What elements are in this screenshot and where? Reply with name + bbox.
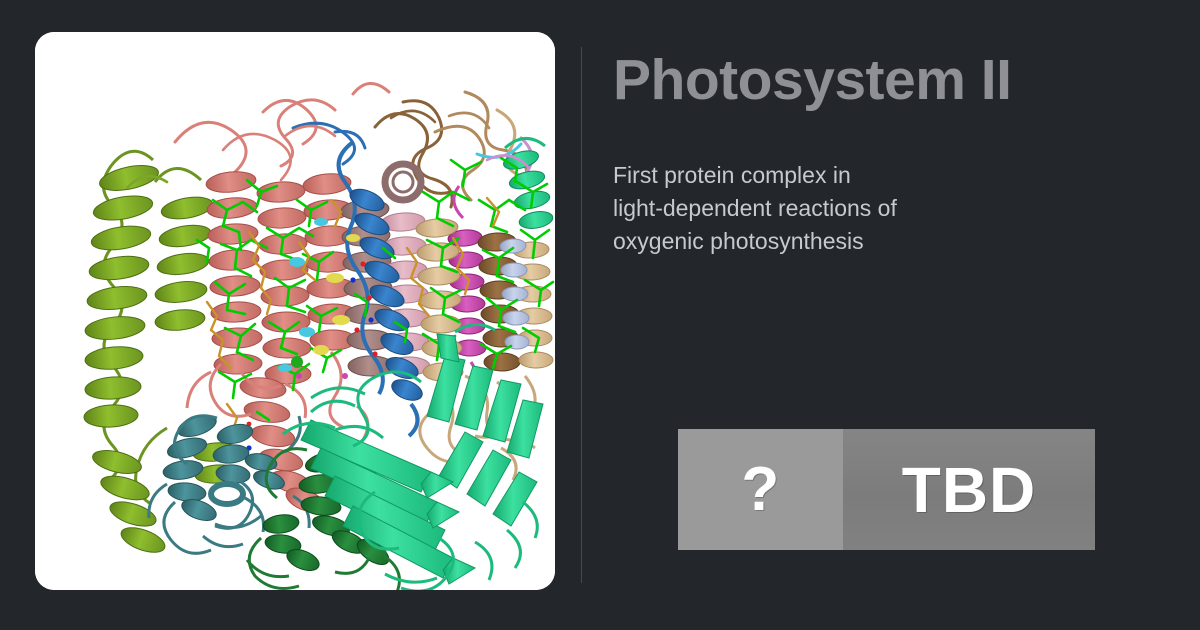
description-line-3: oxygenic photosynthesis (613, 225, 897, 258)
badge-value-text: TBD (902, 458, 1037, 522)
info-panel: Photosystem II First protein complex in … (613, 32, 1133, 590)
social-preview-card: Photosystem II First protein complex in … (0, 0, 1200, 630)
vertical-divider (581, 47, 582, 583)
description-line-2: light-dependent reactions of (613, 192, 897, 225)
status-badge[interactable]: ? TBD (678, 429, 1095, 550)
badge-value-segment: TBD (843, 429, 1095, 550)
page-description: First protein complex in light-dependent… (613, 159, 897, 258)
protein-structure-image (35, 32, 555, 590)
protein-structure-svg (35, 32, 555, 590)
description-line-1: First protein complex in (613, 159, 897, 192)
page-title: Photosystem II (613, 51, 1011, 111)
badge-label-segment: ? (678, 429, 843, 550)
question-mark-icon: ? (741, 459, 779, 521)
